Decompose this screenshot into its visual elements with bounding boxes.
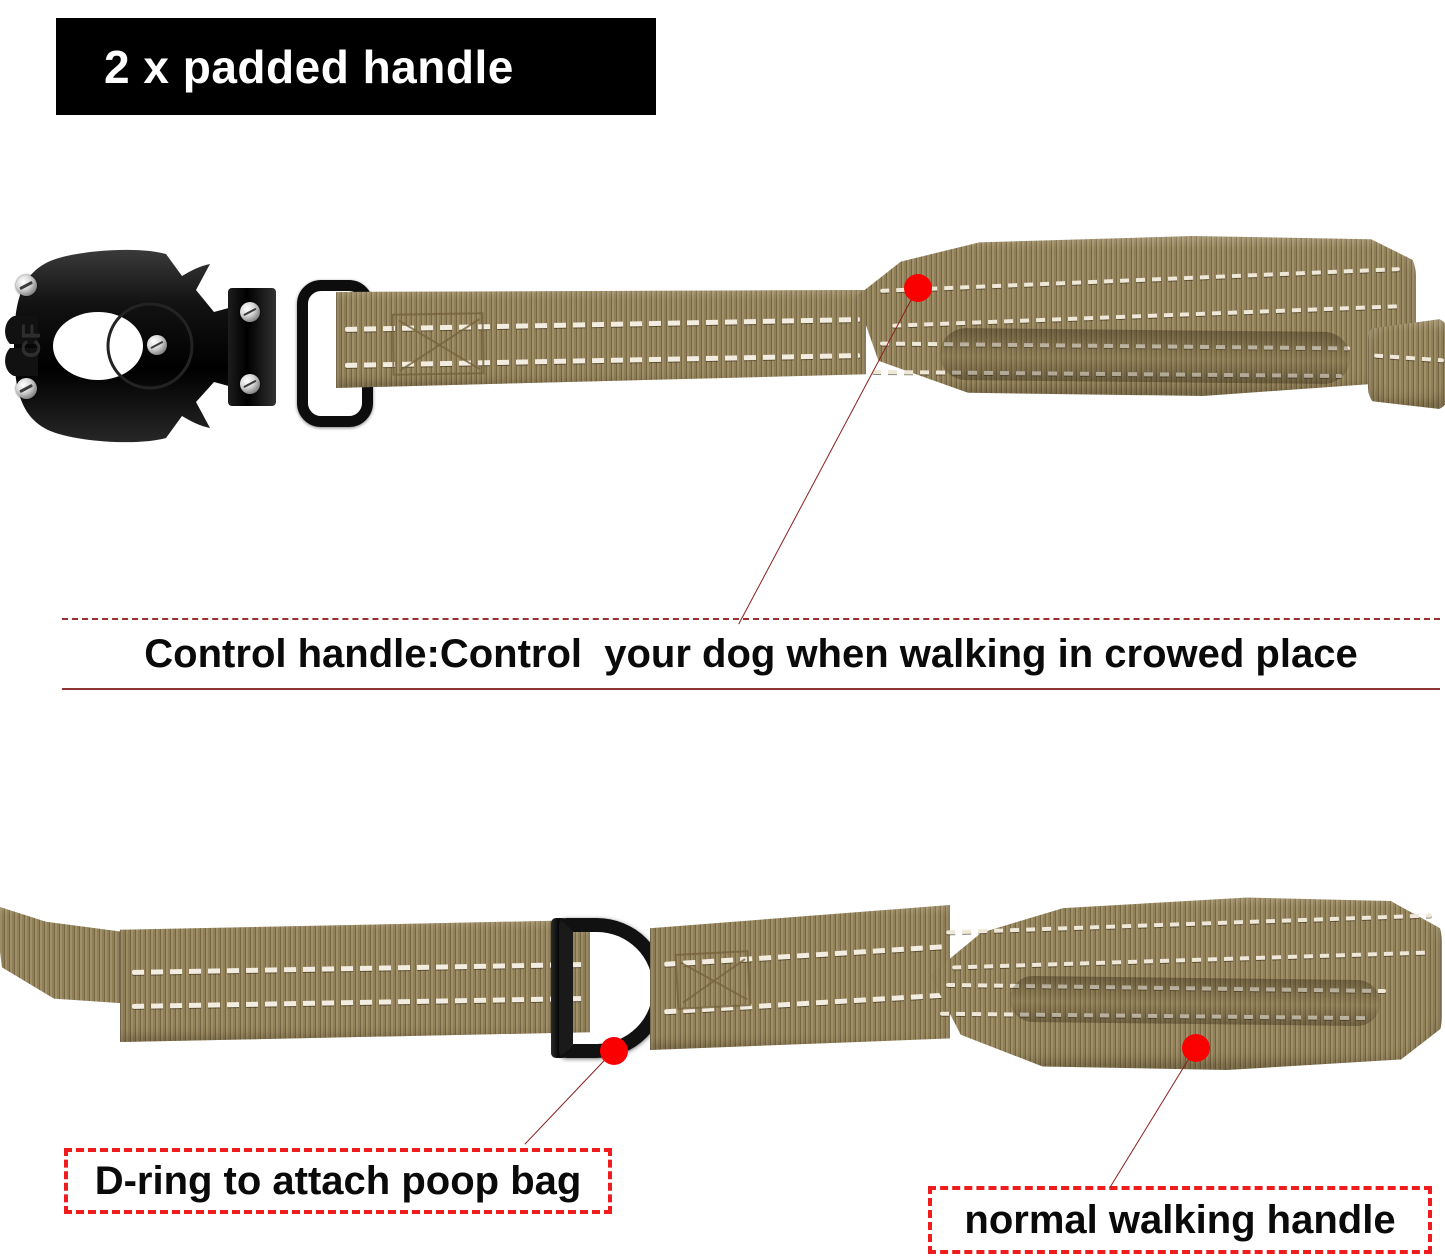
header-banner: 2 x padded handle [56, 18, 656, 115]
control-handle-inner-shadow [940, 328, 1351, 384]
caption-walking-handle: normal walking handle [928, 1186, 1432, 1254]
callout-dot-d-ring [600, 1037, 628, 1065]
clasp-screw-bottom-right [240, 374, 260, 394]
clasp-brand-mark: CF [16, 323, 46, 358]
tactical-clasp-hook: CF [0, 240, 330, 450]
clasp-gate-opening [53, 312, 143, 380]
callout-dot-walking-handle [1182, 1034, 1210, 1062]
bottom-strap-run [120, 920, 590, 1042]
caption-d-ring: D-ring to attach poop bag [64, 1148, 612, 1214]
top-strap-box-stitch [391, 312, 484, 376]
clasp-screw-top-left [16, 275, 37, 296]
caption-control-handle-text: Control handle:Control your dog when wal… [144, 634, 1357, 674]
header-banner-label: 2 x padded handle [104, 44, 514, 90]
callout-leader-d-ring [524, 1050, 614, 1144]
top-strap-tail [1368, 318, 1445, 410]
clasp-screw-bottom-left [16, 378, 37, 399]
caption-control-handle: Control handle:Control your dog when wal… [62, 618, 1440, 690]
walking-handle-inner-shadow [1010, 976, 1381, 1027]
callout-leader-walking-handle [1109, 1047, 1196, 1188]
caption-d-ring-text: D-ring to attach poop bag [95, 1161, 582, 1201]
bottom-strap-box-stitch [675, 950, 752, 1010]
infographic-canvas: 2 x padded handle [0, 0, 1445, 1260]
clasp-screw-center [147, 335, 167, 355]
callout-dot-control-handle [904, 274, 932, 302]
clasp-screw-top-right [240, 302, 260, 322]
caption-walking-handle-text: normal walking handle [964, 1200, 1395, 1240]
